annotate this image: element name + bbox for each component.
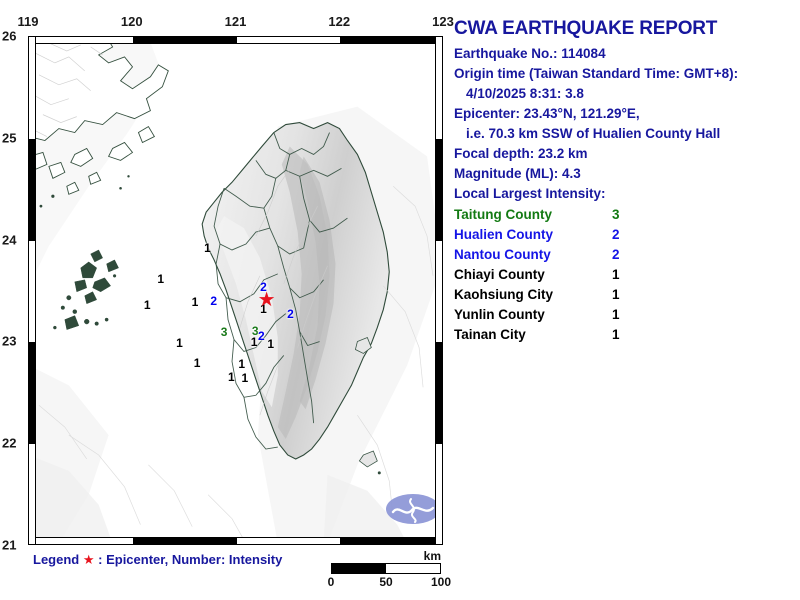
- legend-description: : Epicenter, Number: Intensity: [98, 552, 282, 567]
- longitude-tick-120: 120: [121, 14, 143, 29]
- scalebar-tick-50: 50: [379, 575, 392, 589]
- map-intensity-2: 2: [287, 308, 294, 320]
- scalebar-unit: km: [325, 550, 443, 563]
- intensity-value: 1: [596, 266, 620, 286]
- map-scalebar: km 050100: [325, 550, 443, 590]
- legend-text: Legend ★ : Epicenter, Number: Intensity: [33, 552, 282, 568]
- intensity-county-name: Yunlin County: [454, 306, 596, 326]
- longitude-tick-123: 123: [432, 14, 454, 29]
- intensity-county-name: Kaohsiung City: [454, 286, 596, 306]
- map-intensity-1: 1: [194, 357, 201, 369]
- page-title: CWA EARTHQUAKE REPORT: [454, 18, 800, 40]
- report-panel: CWA EARTHQUAKE REPORT Earthquake No.: 11…: [452, 0, 800, 600]
- intensity-heading: Local Largest Intensity:: [454, 186, 800, 201]
- map-intensity-2: 2: [258, 330, 265, 342]
- map-legend-row: Legend ★ : Epicenter, Number: Intensity …: [28, 552, 443, 596]
- latitude-tick-25: 25: [2, 130, 16, 145]
- longitude-tick-121: 121: [225, 14, 247, 29]
- latitude-tick-22: 22: [2, 436, 16, 451]
- intensity-row: Yunlin County1: [454, 306, 620, 326]
- star-icon: ★: [83, 553, 95, 568]
- cwa-logo-watermark: [385, 492, 441, 526]
- intensity-county-name: Taitung County: [454, 206, 596, 226]
- origin-time-label: Origin time (Taiwan Standard Time: GMT+8…: [454, 66, 800, 81]
- scalebar-segment-filled: [332, 564, 386, 573]
- map-intensity-1: 1: [204, 242, 211, 254]
- epicenter-description: i.e. 70.3 km SSW of Hualien County Hall: [466, 126, 800, 141]
- map-intensity-3: 3: [221, 326, 228, 338]
- intensity-value: 1: [596, 326, 620, 346]
- intensity-county-name: Chiayi County: [454, 266, 596, 286]
- scalebar-bar: [331, 563, 441, 574]
- intensity-row: Hualien County2: [454, 226, 620, 246]
- intensity-value: 2: [596, 226, 620, 246]
- map-frame[interactable]: 111212123312111111★: [28, 36, 443, 545]
- latitude-tick-23: 23: [2, 334, 16, 349]
- scalebar-segment-empty: [386, 564, 440, 573]
- longitude-tick-122: 122: [328, 14, 350, 29]
- map-intensity-1: 1: [144, 299, 151, 311]
- intensity-value: 1: [596, 306, 620, 326]
- taiwan-terrain-map: [29, 37, 442, 544]
- map-intensity-1: 1: [238, 358, 245, 370]
- epicenter-coordinates: Epicenter: 23.43°N, 121.29°E,: [454, 106, 800, 121]
- intensity-row: Nantou County2: [454, 246, 620, 266]
- intensity-county-name: Nantou County: [454, 246, 596, 266]
- map-intensity-1: 1: [267, 338, 274, 350]
- map-intensity-2: 2: [210, 295, 217, 307]
- scalebar-tick-0: 0: [328, 575, 335, 589]
- intensity-value: 3: [596, 206, 620, 226]
- axis-bar-right: [435, 37, 442, 544]
- axis-bar-left: [29, 37, 36, 544]
- axis-bar-top: [29, 37, 442, 44]
- intensity-row: Chiayi County1: [454, 266, 620, 286]
- map-intensity-1: 1: [241, 372, 248, 384]
- epicenter-star-icon: ★: [258, 289, 276, 309]
- origin-time-value: 4/10/2025 8:31: 3.8: [466, 86, 800, 101]
- intensity-county-name: Hualien County: [454, 226, 596, 246]
- map-intensity-1: 1: [192, 296, 199, 308]
- scalebar-tick-100: 100: [431, 575, 451, 589]
- earthquake-number: Earthquake No.: 114084: [454, 46, 800, 61]
- longitude-tick-119: 119: [18, 14, 39, 29]
- magnitude: Magnitude (ML): 4.3: [454, 166, 800, 181]
- earthquake-report-page: 119120121122123 262524232221: [0, 0, 800, 600]
- map-intensity-1: 1: [228, 371, 235, 383]
- legend-label: Legend: [33, 552, 79, 567]
- map-intensity-1: 1: [251, 336, 258, 348]
- map-intensity-1: 1: [157, 273, 164, 285]
- intensity-row: Tainan City1: [454, 326, 620, 346]
- intensity-county-name: Tainan City: [454, 326, 596, 346]
- focal-depth: Focal depth: 23.2 km: [454, 146, 800, 161]
- latitude-tick-26: 26: [2, 29, 16, 44]
- intensity-table: Taitung County3Hualien County2Nantou Cou…: [454, 206, 620, 346]
- intensity-value: 1: [596, 286, 620, 306]
- intensity-row: Kaohsiung City1: [454, 286, 620, 306]
- latitude-tick-21: 21: [2, 538, 16, 553]
- intensity-row: Taitung County3: [454, 206, 620, 226]
- axis-bar-bottom: [29, 537, 442, 544]
- scalebar-ticks: 050100: [325, 574, 447, 590]
- map-panel: 119120121122123 262524232221: [0, 0, 450, 600]
- latitude-tick-24: 24: [2, 232, 16, 247]
- map-intensity-1: 1: [176, 337, 183, 349]
- intensity-value: 2: [596, 246, 620, 266]
